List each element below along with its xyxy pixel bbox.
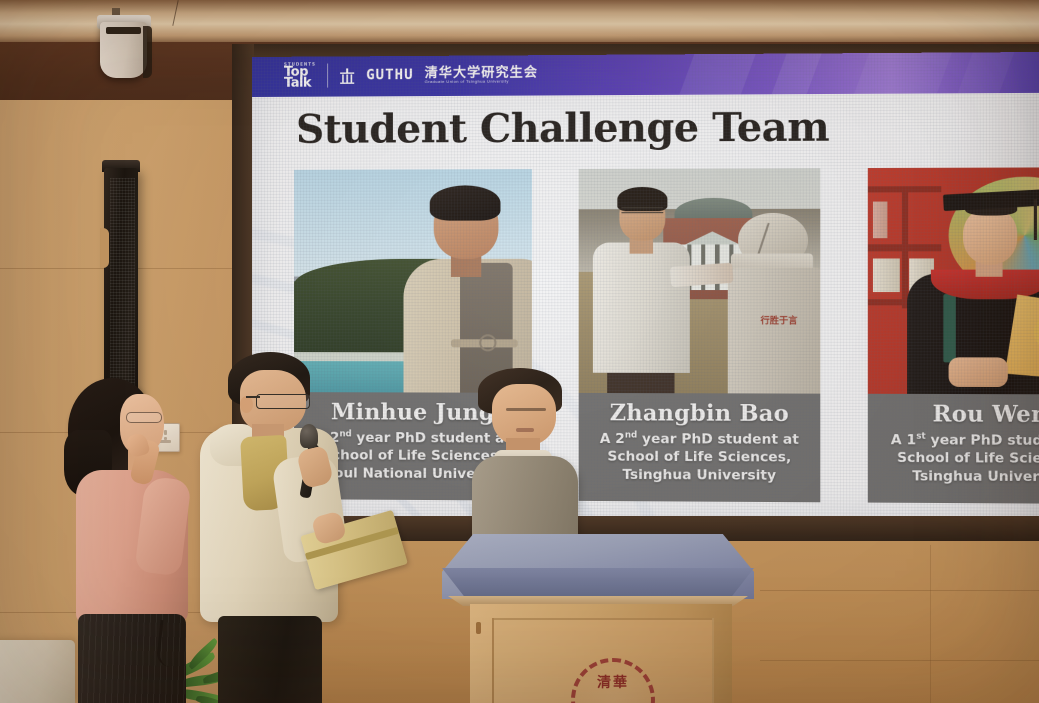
member-affiliation-line1: A 2nd year PhD student at bbox=[600, 430, 799, 449]
member-affiliation-line1: A 1st year PhD student at bbox=[891, 431, 1039, 451]
person-man-with-microphone bbox=[196, 352, 401, 703]
person-woman-in-pink-blouse bbox=[62, 378, 202, 703]
slide-title: Student Challenge Team bbox=[296, 104, 829, 153]
speaker-grille bbox=[110, 178, 135, 407]
wall-panel-seam bbox=[760, 590, 1039, 591]
team-member-card: 行胜于言 Zhangbin Bao A 2nd year PhD student… bbox=[579, 168, 821, 502]
sundial-inscription: 行胜于言 bbox=[747, 317, 810, 327]
projector-arm bbox=[143, 26, 152, 78]
slide-brand-logos: STUDENTS Top Talk GUTHU 清华大学研究生会 Graduat… bbox=[284, 61, 538, 89]
member-name: Zhangbin Bao bbox=[610, 400, 789, 427]
guthu-logo: GUTHU bbox=[366, 67, 413, 83]
wall-panel-seam bbox=[930, 545, 931, 703]
tsinghua-graduate-union-en: Graduate Union of Tsinghua University bbox=[425, 79, 538, 84]
member-photo-sundial: 行胜于言 bbox=[579, 168, 821, 393]
member-photo-graduation bbox=[868, 167, 1039, 394]
eyeglasses-icon bbox=[126, 412, 162, 423]
toptalk-logo-tagline: STUDENTS bbox=[284, 63, 316, 67]
presentation-room-photo: STUDENTS Top Talk GUTHU 清华大学研究生会 Graduat… bbox=[0, 0, 1039, 703]
toptalk-logo: STUDENTS Top Talk bbox=[284, 63, 316, 90]
ceiling-cove bbox=[0, 0, 1039, 46]
member-caption: Zhangbin Bao A 2nd year PhD student at S… bbox=[579, 393, 821, 502]
member-affiliation-line3: Tsinghua University bbox=[912, 468, 1039, 487]
team-member-cards: Minhue Jung A 2nd year PhD student at Sc… bbox=[294, 167, 1039, 504]
wall-panel-seam bbox=[760, 660, 1039, 661]
member-affiliation-line3: Tsinghua University bbox=[622, 467, 776, 486]
wall-speaker-icon bbox=[104, 168, 138, 413]
podium-front-bevel bbox=[442, 568, 754, 600]
tsinghua-graduate-union-logo: 清华大学研究生会 Graduate Union of Tsinghua Univ… bbox=[425, 66, 538, 85]
member-affiliation-line2: School of Life Sciences, bbox=[897, 450, 1039, 469]
member-name: Rou Wen bbox=[933, 401, 1039, 428]
member-caption: Rou Wen A 1st year PhD student at School… bbox=[868, 394, 1039, 504]
tsinghua-gate-icon bbox=[339, 67, 355, 84]
projector-vent bbox=[106, 27, 141, 34]
podium-hinge bbox=[476, 622, 481, 634]
speaker-notch bbox=[100, 228, 109, 268]
team-member-card: Rou Wen A 1st year PhD student at School… bbox=[868, 167, 1039, 504]
member-affiliation-line2: School of Life Sciences, bbox=[607, 449, 791, 468]
toptalk-logo-line2: Talk bbox=[284, 78, 316, 90]
logo-divider bbox=[327, 64, 328, 88]
microphone-icon bbox=[300, 424, 318, 448]
